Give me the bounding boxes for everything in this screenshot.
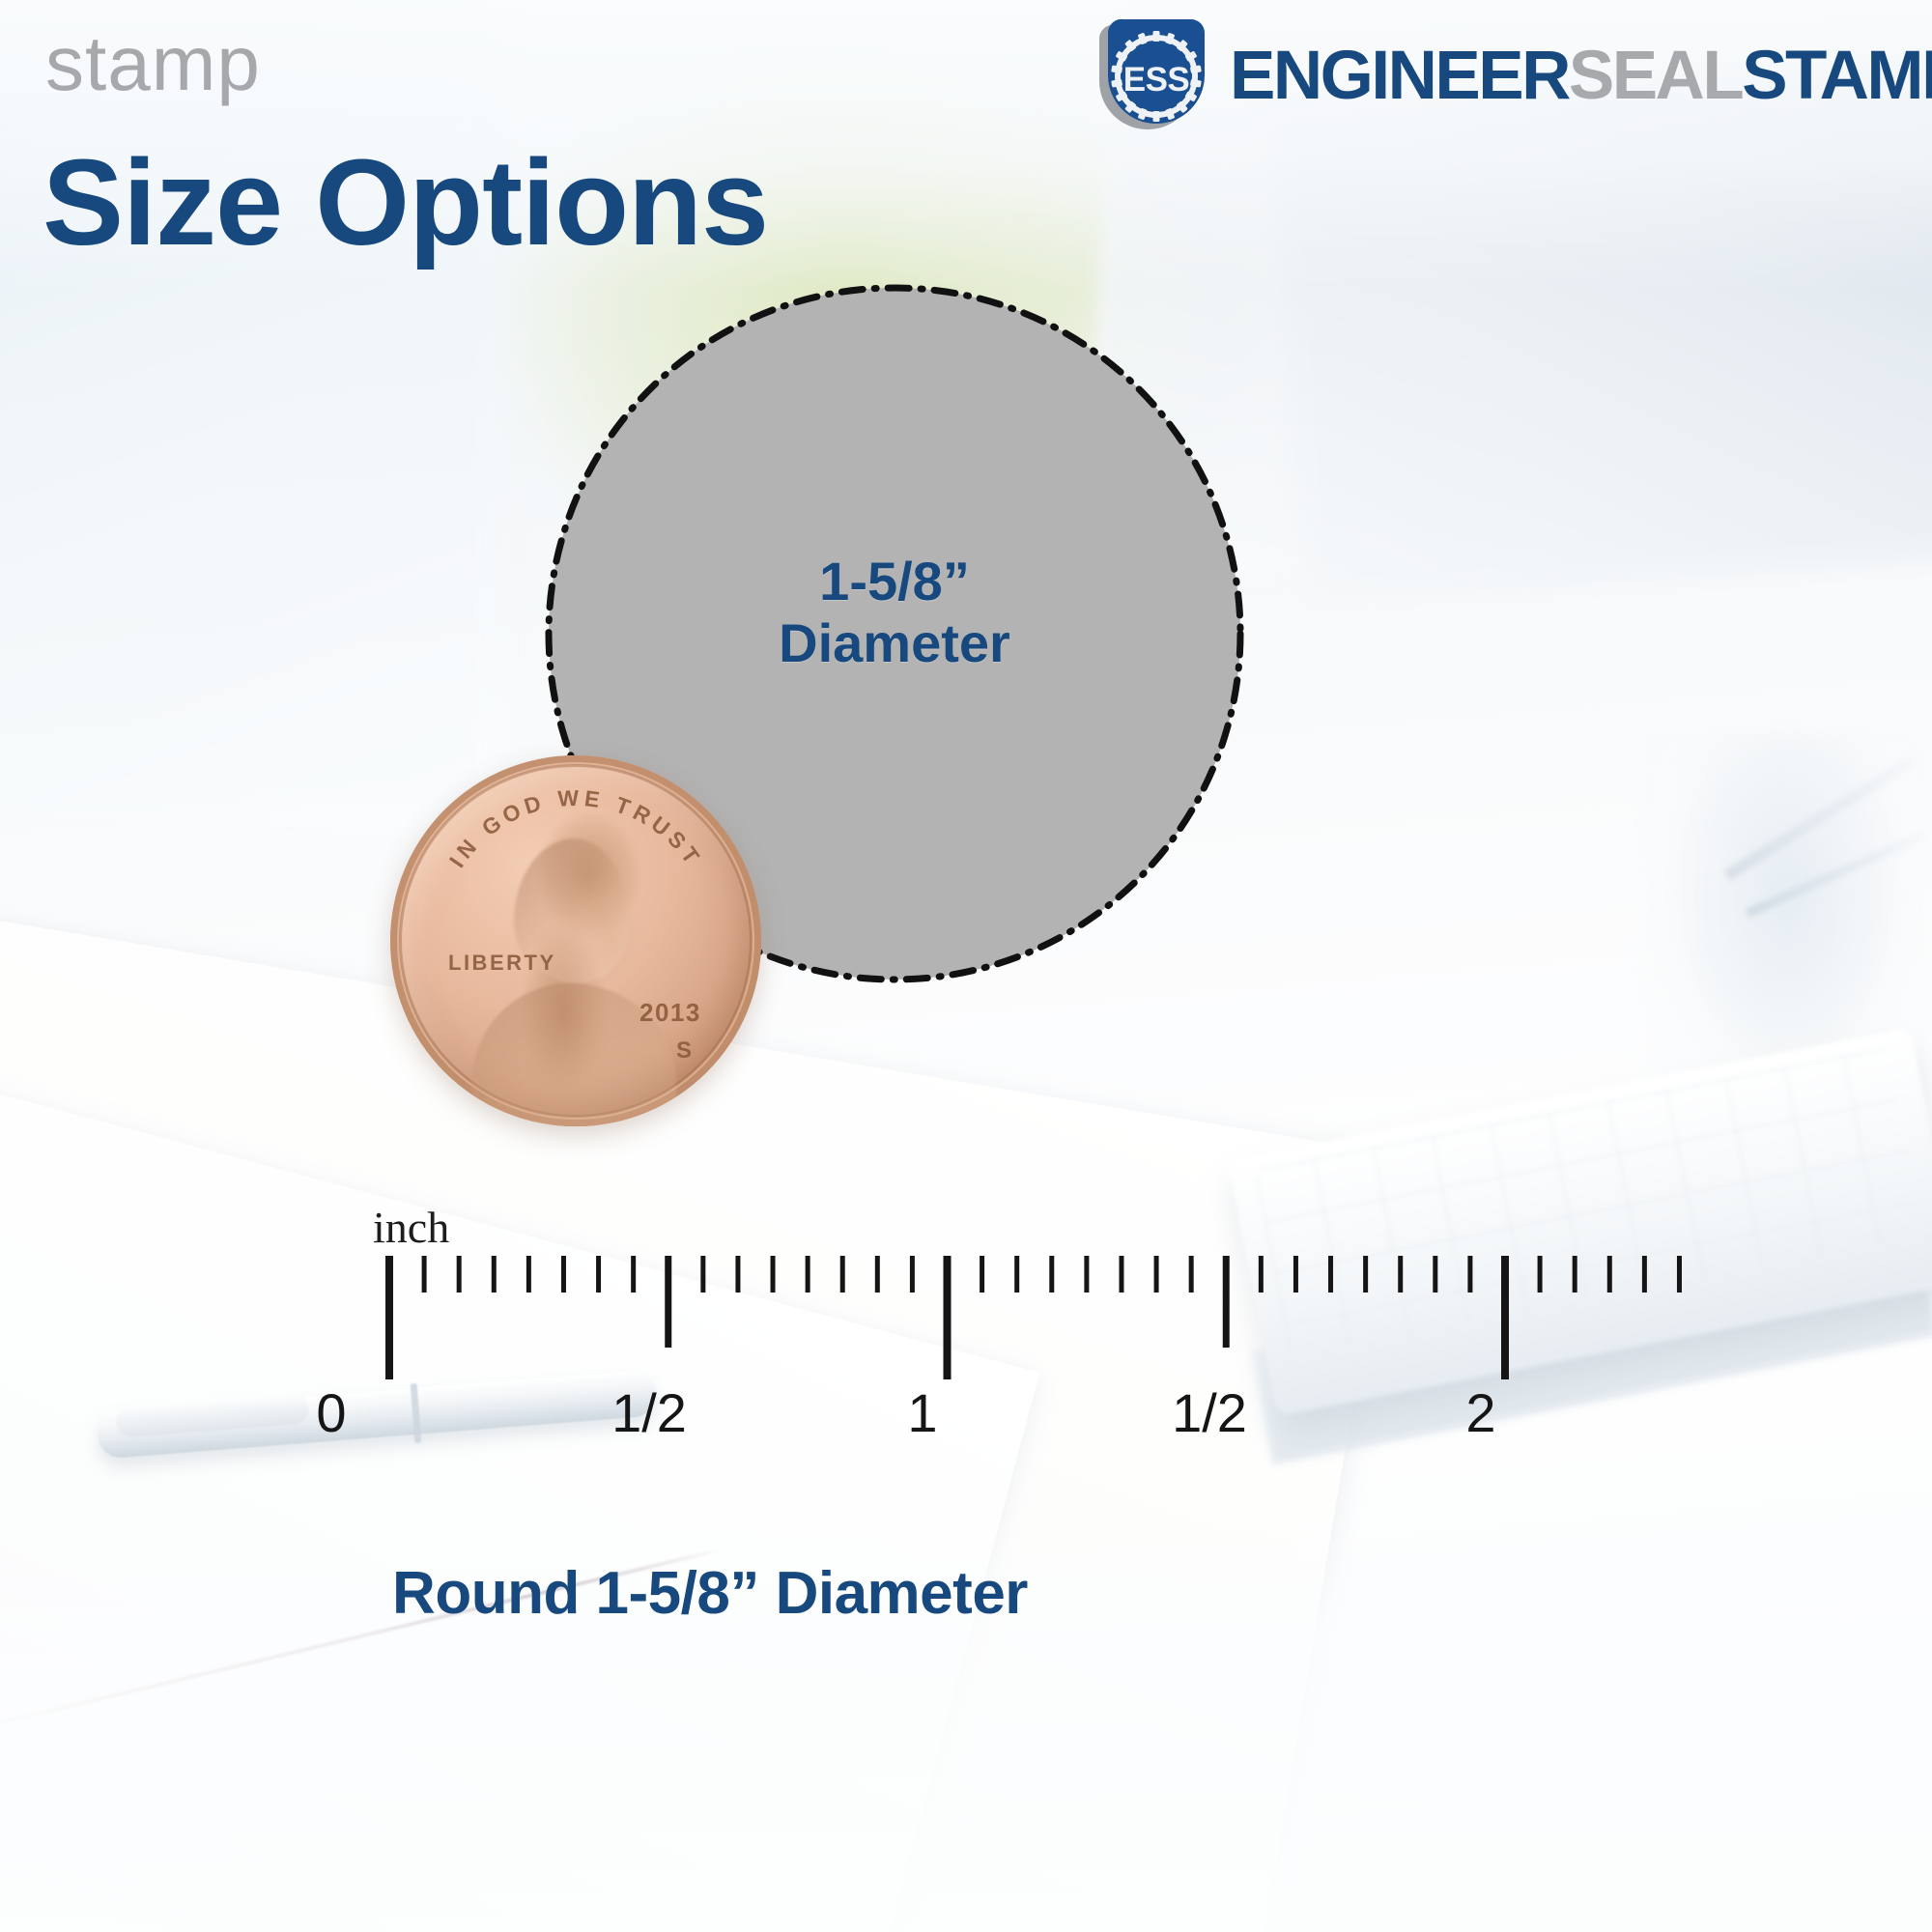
ruler-minor-tick (980, 1256, 984, 1293)
penny-liberty-text: LIBERTY (448, 951, 556, 975)
ess-gear-shield-icon: ESS (1096, 15, 1216, 135)
ruler-minor-tick (1328, 1256, 1333, 1293)
inch-ruler (0, 1198, 1932, 1507)
ruler-minor-tick (1607, 1256, 1612, 1293)
stamp-size-label: 1-5/8” Diameter (539, 551, 1250, 674)
penny-reference-coin: IN GOD WE TRUST LIBERTY 2013 S (390, 755, 761, 1126)
ruler-minor-tick (1084, 1256, 1089, 1293)
penny-mintmark-text: S (676, 1037, 692, 1064)
ruler-minor-tick (875, 1256, 880, 1293)
ruler-minor-tick (1398, 1256, 1403, 1293)
ruler-minor-tick (1293, 1256, 1298, 1293)
ruler-minor-tick (1259, 1256, 1264, 1293)
stamp-size-value: 1-5/8” (539, 551, 1250, 612)
ruler-tick-label: 2 (1465, 1381, 1495, 1444)
ruler-minor-tick (631, 1256, 636, 1293)
ruler-minor-tick (1154, 1256, 1159, 1293)
ruler-tick-label: 1/2 (1172, 1381, 1247, 1444)
wordmark-stamps: STAMPS (1742, 42, 1932, 110)
page-title: Size Options (43, 141, 768, 266)
penny-motto-text: IN GOD WE TRUST (444, 785, 707, 872)
ruler-half-tick (665, 1256, 671, 1348)
brand-logo[interactable]: ESS ENGINEERSEALSTAMPS.COM (1096, 15, 1913, 135)
stamp-size-unit: Diameter (539, 612, 1250, 674)
ruler-minor-tick (771, 1256, 776, 1293)
ruler-minor-tick (492, 1256, 497, 1293)
ruler-minor-tick (806, 1256, 810, 1293)
ruler-minor-tick (1538, 1256, 1543, 1293)
wordmark-seal: SEAL (1569, 42, 1742, 110)
kicker-stamp: stamp (45, 25, 261, 102)
svg-text:IN GOD WE TRUST: IN GOD WE TRUST (444, 785, 707, 872)
ruler-minor-tick (1433, 1256, 1437, 1293)
ruler-minor-tick (840, 1256, 845, 1293)
ruler-minor-tick (596, 1256, 601, 1293)
ruler-tick-label: 0 (316, 1381, 346, 1444)
ruler-minor-tick (1189, 1256, 1194, 1293)
size-caption: Round 1-5/8” Diameter (0, 1559, 1420, 1628)
ruler-major-tick (1501, 1256, 1509, 1379)
ruler-minor-tick (1677, 1256, 1682, 1293)
ruler-half-tick (1223, 1256, 1230, 1348)
ruler-minor-tick (1467, 1256, 1472, 1293)
ruler-minor-tick (1014, 1256, 1019, 1293)
svg-text:ESS: ESS (1123, 61, 1190, 99)
penny-year-text: 2013 (639, 998, 701, 1027)
ruler-minor-tick (1363, 1256, 1368, 1293)
ruler-minor-tick (1642, 1256, 1647, 1293)
ruler-minor-tick (700, 1256, 705, 1293)
ruler-minor-tick (422, 1256, 427, 1293)
ruler-major-tick (944, 1256, 952, 1379)
ruler-minor-tick (1573, 1256, 1577, 1293)
size-options-graphic: stamp Size Options (0, 0, 1932, 1932)
brand-wordmark: ENGINEERSEALSTAMPS.COM (1230, 42, 1932, 110)
ruler-minor-tick (735, 1256, 740, 1293)
ruler-tick-label: 1/2 (611, 1381, 687, 1444)
ruler-minor-tick (526, 1256, 531, 1293)
ruler-minor-tick (1049, 1256, 1054, 1293)
ruler-minor-tick (457, 1256, 462, 1293)
wordmark-engineer: ENGINEER (1230, 42, 1569, 110)
ruler-tick-label: 1 (907, 1381, 937, 1444)
ruler-major-tick (385, 1256, 393, 1379)
ruler-unit-label: inch (373, 1202, 449, 1253)
ruler-minor-tick (561, 1256, 566, 1293)
ruler-minor-tick (910, 1256, 915, 1293)
ruler-minor-tick (1119, 1256, 1123, 1293)
